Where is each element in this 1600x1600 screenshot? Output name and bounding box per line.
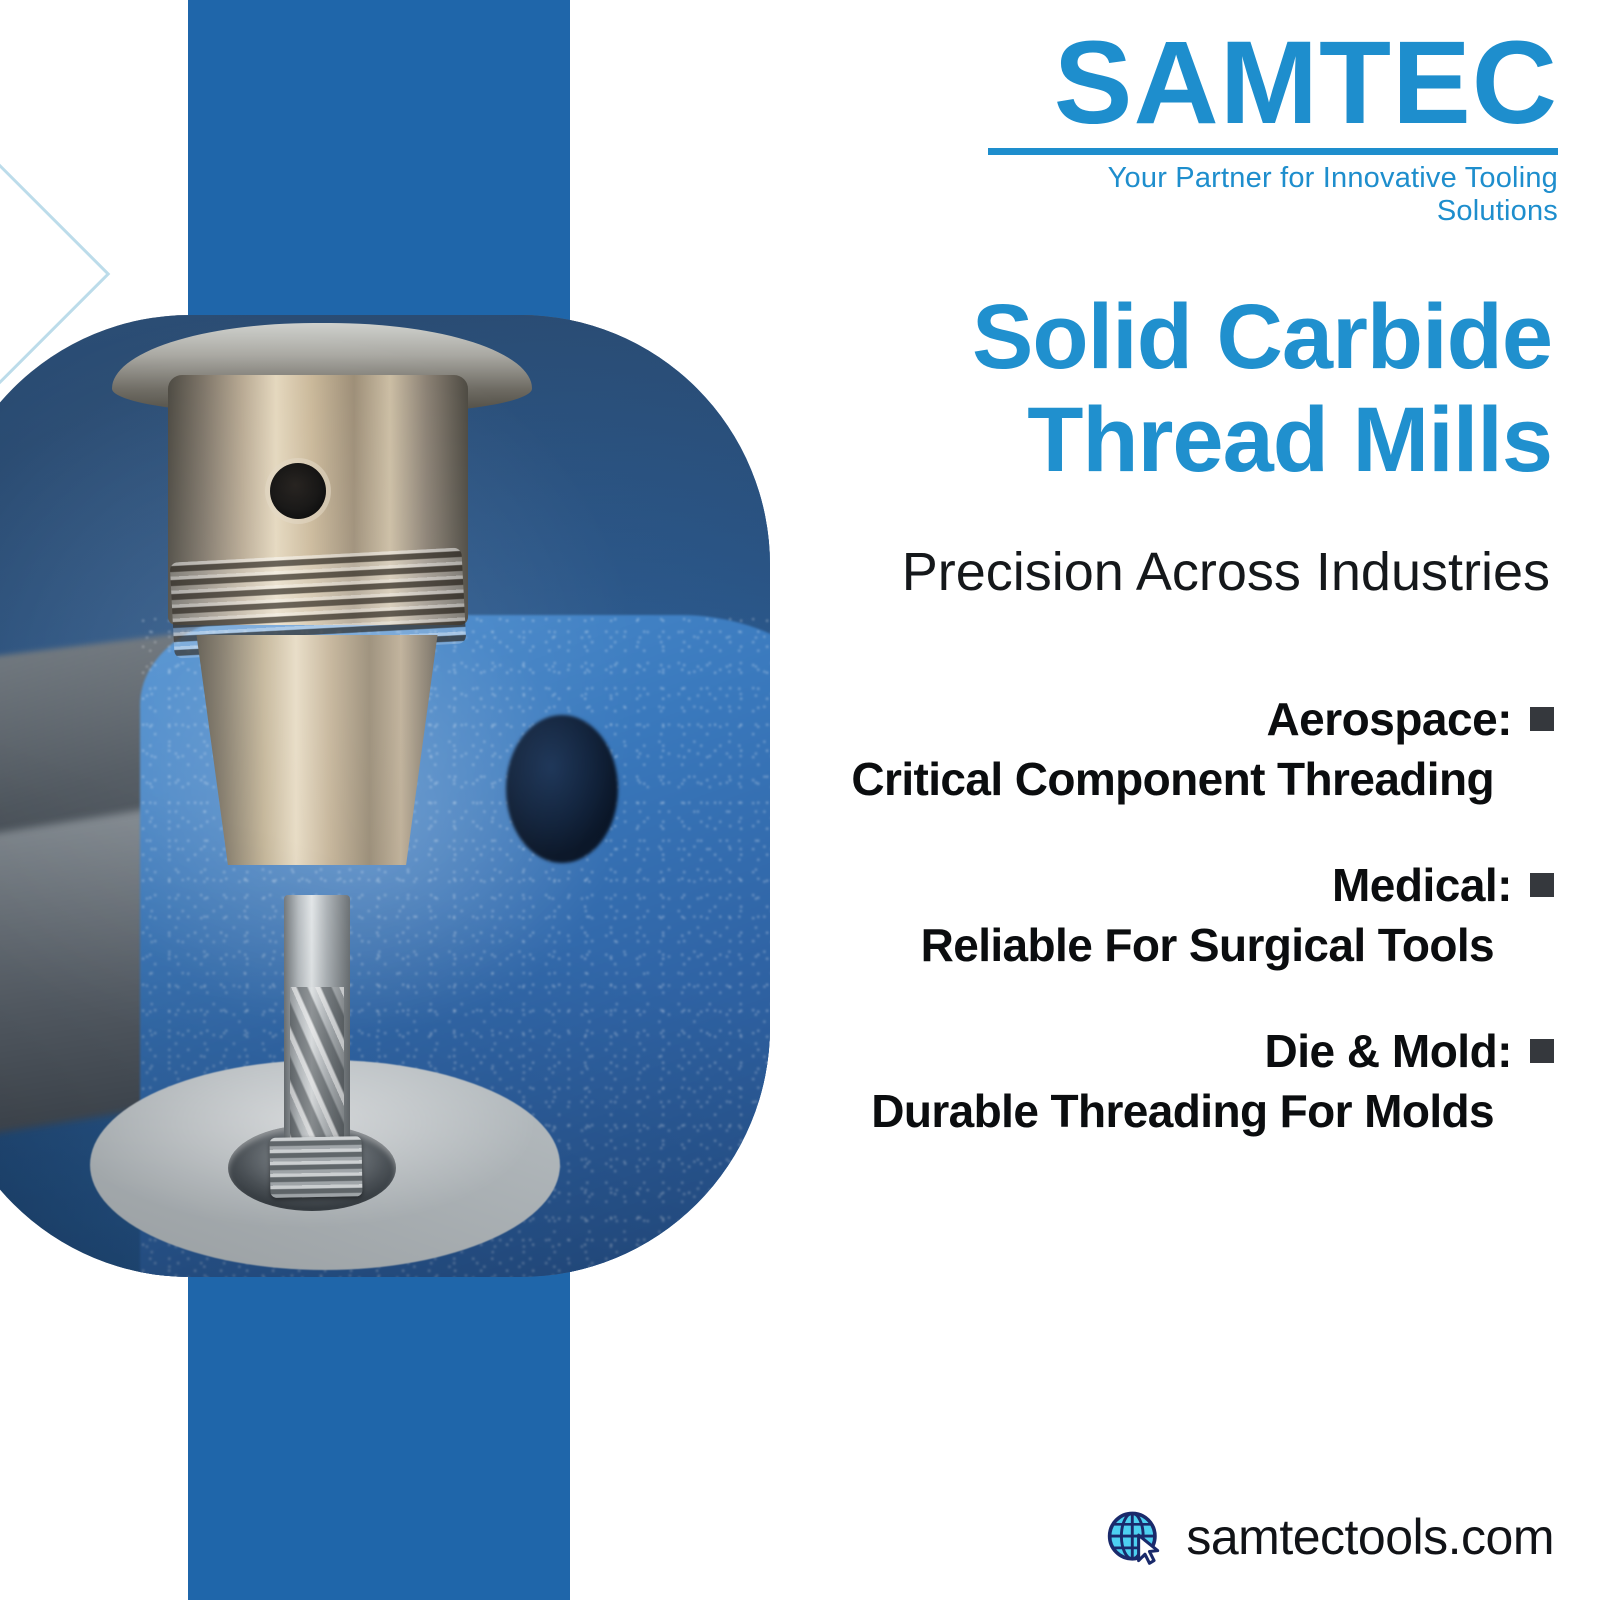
poster-canvas: SAMTEC Your Partner for Innovative Tooli… — [0, 0, 1600, 1600]
list-item-header: Die & Mold: — [738, 1024, 1558, 1078]
globe-cursor-icon — [1106, 1508, 1164, 1566]
list-item-label: Medical: — [1332, 858, 1512, 912]
list-item: Aerospace: Critical Component Threading — [738, 692, 1558, 806]
logo-divider-rule — [988, 148, 1558, 155]
list-item-header: Medical: — [738, 858, 1558, 912]
square-bullet-icon — [1530, 873, 1554, 897]
list-item-header: Aerospace: — [738, 692, 1558, 746]
list-item-label: Die & Mold: — [1265, 1024, 1512, 1078]
page-title-line-2: Thread Mills — [812, 389, 1552, 492]
website-footer[interactable]: samtectools.com — [1106, 1508, 1554, 1566]
page-title: Solid Carbide Thread Mills — [812, 286, 1552, 492]
square-bullet-icon — [1530, 707, 1554, 731]
list-item-label: Aerospace: — [1266, 692, 1512, 746]
list-item: Medical: Reliable For Surgical Tools — [738, 858, 1558, 972]
list-item-description: Critical Component Threading — [738, 752, 1558, 806]
thread-mill-machining-photo — [0, 315, 770, 1277]
list-item-description: Durable Threading For Molds — [738, 1084, 1558, 1138]
list-item-description: Reliable For Surgical Tools — [738, 918, 1558, 972]
logo-wordmark: SAMTEC — [988, 24, 1558, 142]
photo-lighting-overlay — [0, 315, 770, 1277]
square-bullet-icon — [1530, 1039, 1554, 1063]
list-item: Die & Mold: Durable Threading For Molds — [738, 1024, 1558, 1138]
website-url[interactable]: samtectools.com — [1186, 1508, 1554, 1566]
page-subtitle: Precision Across Industries — [810, 540, 1550, 605]
brand-logo: SAMTEC Your Partner for Innovative Tooli… — [988, 24, 1558, 228]
industry-list: Aerospace: Critical Component Threading … — [738, 692, 1558, 1138]
logo-tagline: Your Partner for Innovative Tooling Solu… — [988, 162, 1558, 228]
page-title-line-1: Solid Carbide — [812, 286, 1552, 389]
